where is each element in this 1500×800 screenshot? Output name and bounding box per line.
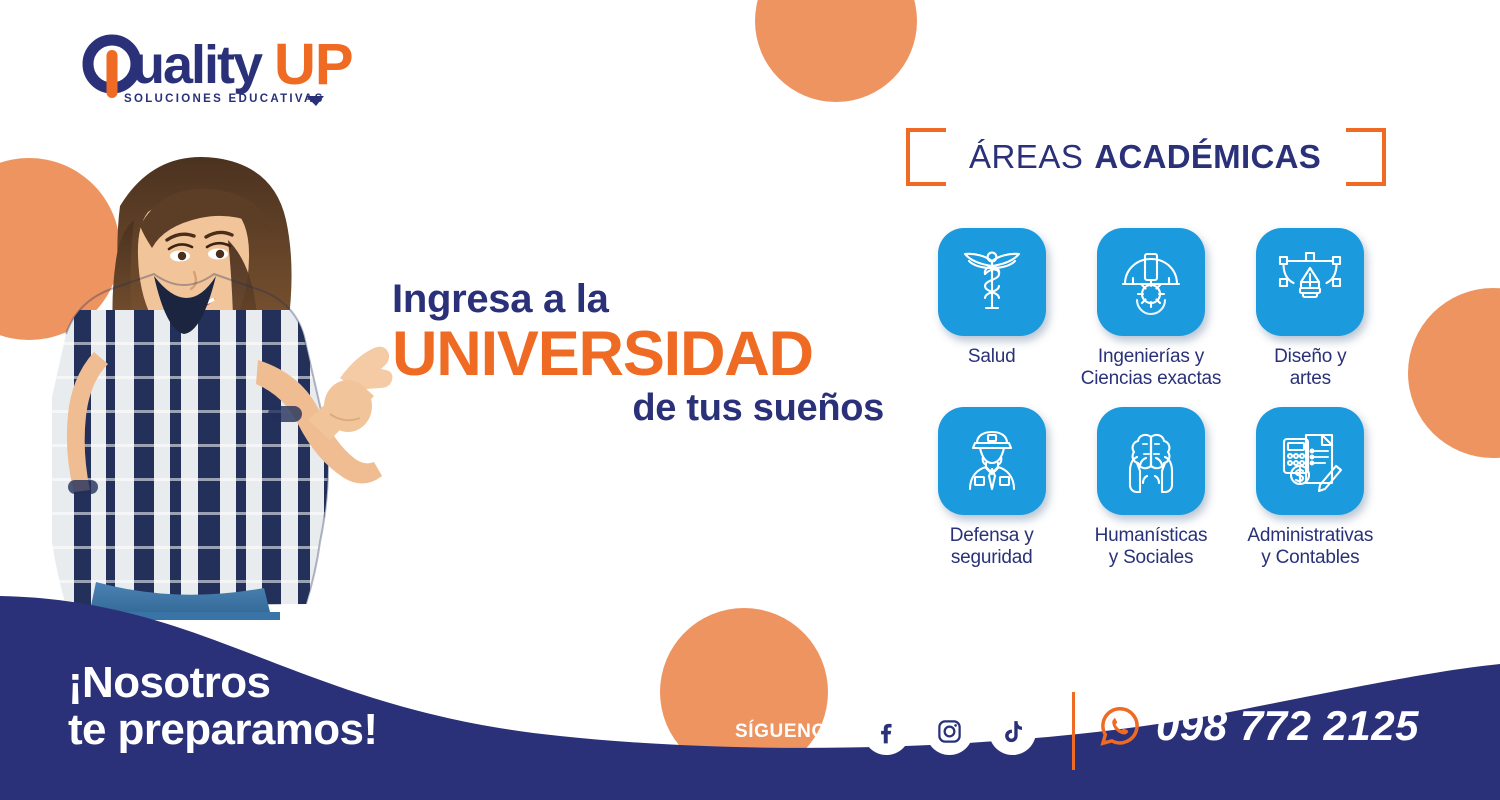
- area-item-humanisticas[interactable]: Humanísticas y Sociales: [1071, 407, 1230, 570]
- follow-label: SÍGUENOS:: [735, 721, 847, 743]
- areas-title-bold: ACADÉMICAS: [1094, 138, 1321, 176]
- decorative-circle-top: [755, 0, 917, 102]
- academic-areas-section: ÁREAS ACADÉMICAS: [906, 124, 1386, 190]
- areas-title: ÁREAS ACADÉMICAS: [906, 124, 1384, 190]
- facebook-icon[interactable]: [863, 708, 910, 755]
- svg-text:UP: UP: [274, 32, 353, 97]
- caduceus-icon: [958, 248, 1026, 316]
- whatsapp-contact[interactable]: 098 772 2125: [1098, 702, 1419, 750]
- footer-content: ¡Nosotros te preparamos! SÍGUENOS:: [0, 640, 1500, 800]
- area-tile[interactable]: [1256, 407, 1364, 515]
- academic-areas-grid: Salud Ingenierías y Ciencias exactas: [912, 228, 1390, 570]
- area-item-defensa[interactable]: Defensa y seguridad: [912, 407, 1071, 570]
- hero-headline: Ingresa a la UNIVERSIDAD de tus sueños: [392, 278, 892, 430]
- tiktok-icon[interactable]: [989, 708, 1036, 755]
- area-tile[interactable]: [938, 228, 1046, 336]
- brand-logo[interactable]: uality UP SOLUCIONES EDUCATIVAS: [78, 26, 378, 112]
- area-item-salud[interactable]: Salud: [912, 228, 1071, 391]
- area-tile[interactable]: [1256, 228, 1364, 336]
- decorative-circle-right: [1408, 288, 1500, 458]
- phone-number: 098 772 2125: [1156, 702, 1419, 750]
- area-item-ingenierias[interactable]: Ingenierías y Ciencias exactas: [1071, 228, 1230, 391]
- headline-line-2: UNIVERSIDAD: [392, 320, 892, 388]
- headline-line-1: Ingresa a la: [392, 278, 892, 320]
- area-tile[interactable]: [938, 407, 1046, 515]
- area-label: Ingenierías y Ciencias exactas: [1081, 346, 1221, 391]
- area-label: Diseño y artes: [1274, 346, 1346, 391]
- svg-text:uality: uality: [132, 35, 263, 95]
- area-tile[interactable]: [1097, 407, 1205, 515]
- footer-headline: ¡Nosotros te preparamos!: [68, 660, 377, 753]
- social-links: SÍGUENOS:: [735, 708, 1036, 755]
- whatsapp-icon: [1098, 704, 1142, 748]
- brain-in-hands-icon: [1117, 427, 1185, 495]
- area-item-administrativas[interactable]: Administrativas y Contables: [1231, 407, 1390, 570]
- pen-tool-icon: [1276, 248, 1344, 316]
- areas-title-wrap: ÁREAS ACADÉMICAS: [906, 124, 1386, 190]
- areas-title-light: ÁREAS: [969, 138, 1083, 176]
- headline-line-3: de tus sueños: [392, 388, 884, 430]
- area-label: Salud: [968, 346, 1016, 368]
- calculator-document-icon: [1276, 427, 1344, 495]
- instagram-icon[interactable]: [926, 708, 973, 755]
- hardhat-gear-icon: [1117, 248, 1185, 316]
- area-tile[interactable]: [1097, 228, 1205, 336]
- hero-person-photo: [22, 120, 414, 620]
- svg-text:SOLUCIONES EDUCATIVAS: SOLUCIONES EDUCATIVAS: [124, 93, 325, 105]
- poster-canvas: uality UP SOLUCIONES EDUCATIVAS: [0, 0, 1500, 800]
- police-officer-icon: [958, 427, 1026, 495]
- area-item-diseno[interactable]: Diseño y artes: [1231, 228, 1390, 391]
- footer-divider: [1072, 692, 1075, 770]
